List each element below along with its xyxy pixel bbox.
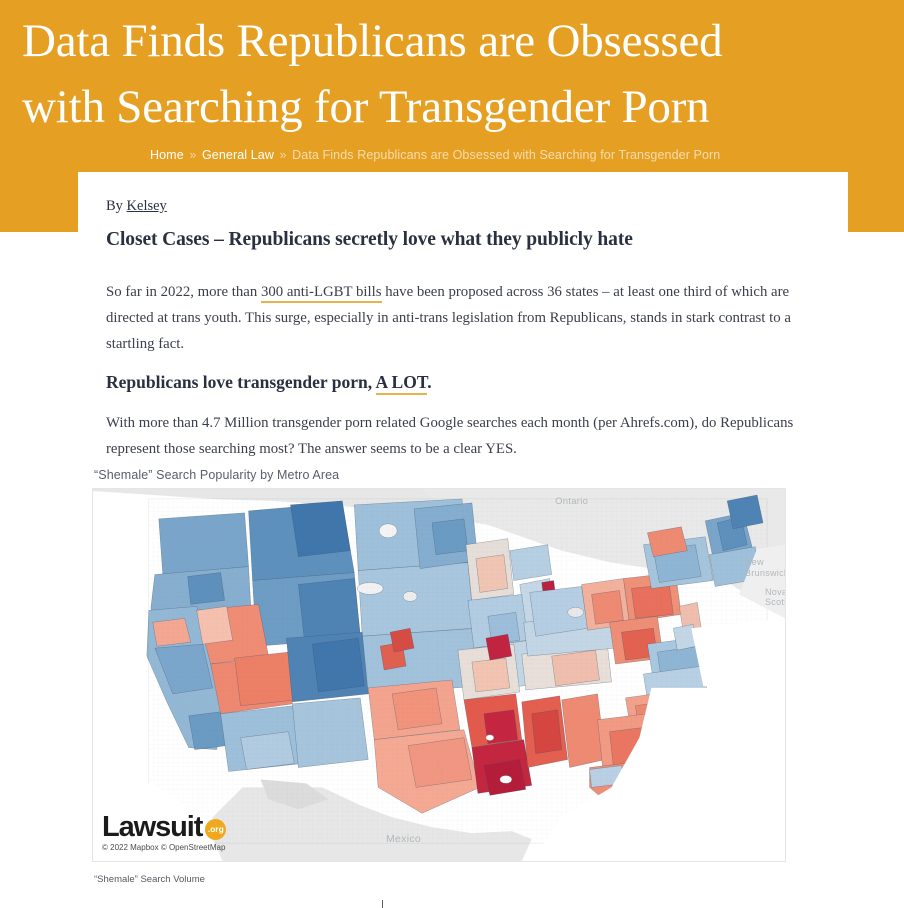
map-title: “Shemale” Search Popularity by Metro Are… — [92, 468, 802, 482]
article-page: Data Finds Republicans are Obsessed with… — [0, 0, 904, 908]
article-heading-2: Closet Cases – Republicans secretly love… — [106, 229, 633, 251]
logo-org-badge: .org — [205, 819, 226, 840]
heading-3-text-before: Republicans love transgender porn, — [106, 372, 376, 392]
map-attribution: © 2022 Mapbox © OpenStreetMap — [102, 843, 226, 852]
lawsuit-org-logo: Lawsuit .org © 2022 Mapbox © OpenStreetM… — [102, 812, 226, 852]
breadcrumb-link-home[interactable]: Home — [150, 148, 184, 162]
map-panel[interactable]: Ontario New Brunswick Nova Scotia Mexico… — [92, 488, 786, 862]
byline-prefix: By — [106, 198, 127, 214]
search-popularity-map-figure: “Shemale” Search Popularity by Metro Are… — [92, 468, 802, 908]
page-title: Data Finds Republicans are Obsessed with… — [22, 8, 904, 140]
article-card: By Kelsey Closet Cases – Republicans sec… — [78, 172, 848, 908]
page-title-line-2: with Searching for Transgender Porn — [22, 74, 904, 140]
article-byline: By Kelsey — [106, 198, 167, 215]
breadcrumb-current-page: Data Finds Republicans are Obsessed with… — [292, 148, 720, 162]
article-paragraph-1: So far in 2022, more than 300 anti-LGBT … — [106, 279, 806, 357]
breadcrumb: Home » General Law » Data Finds Republic… — [150, 147, 720, 164]
legend-title: “Shemale” Search Volume — [94, 874, 802, 885]
anti-lgbt-bills-link[interactable]: 300 anti-LGBT bills — [261, 284, 382, 303]
breadcrumb-link-general-law[interactable]: General Law — [202, 148, 274, 162]
logo-wordmark: Lawsuit — [102, 812, 202, 842]
paragraph-1-text-before: So far in 2022, more than — [106, 284, 261, 300]
breadcrumb-separator-1: » — [187, 148, 198, 162]
map-legend: “Shemale” Search Volume — [92, 874, 802, 908]
article-heading-3: Republicans love transgender porn, A LOT… — [106, 372, 432, 393]
a-lot-link[interactable]: A LOT — [376, 372, 428, 395]
logo-row: Lawsuit .org — [102, 812, 226, 842]
legend-colorbar — [94, 891, 766, 908]
heading-3-text-after: . — [427, 372, 431, 392]
article-paragraph-2: With more than 4.7 Million transgender p… — [106, 410, 806, 462]
breadcrumb-separator-2: » — [278, 148, 289, 162]
page-title-line-1: Data Finds Republicans are Obsessed — [22, 8, 904, 74]
legend-tick-marker — [382, 900, 383, 908]
byline-author-link[interactable]: Kelsey — [127, 198, 167, 214]
choropleth-map-svg — [93, 489, 785, 861]
